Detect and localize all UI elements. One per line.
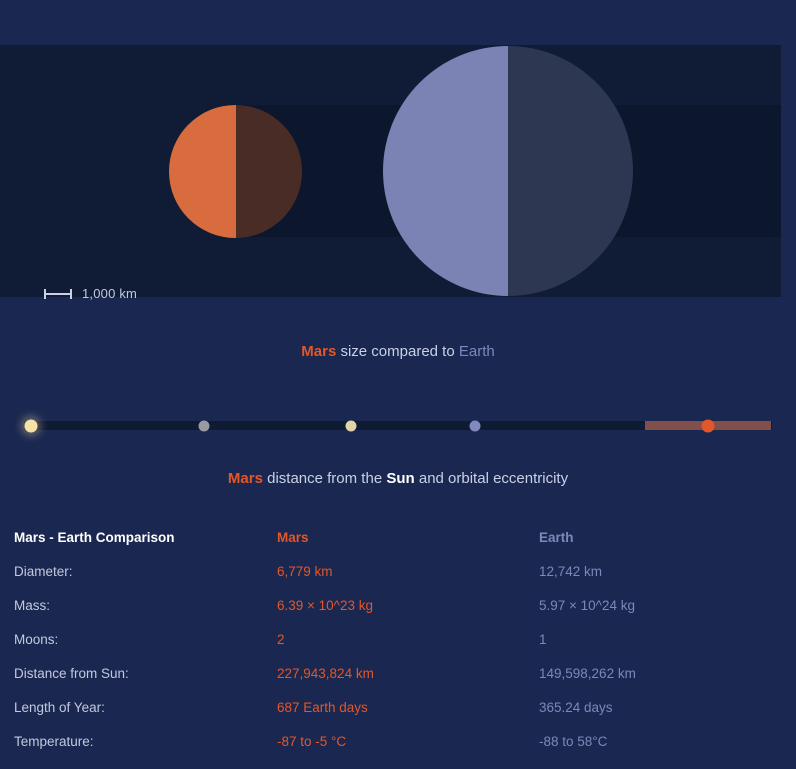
planet-comparison-app: 1,000 km Mars size compared to Earth Mar… — [0, 0, 796, 769]
row-value-earth: 12,742 km — [539, 562, 602, 582]
caption-distance-subject: Mars — [228, 470, 263, 487]
row-label: Mass: — [14, 596, 50, 616]
scale-ruler-icon — [44, 289, 72, 299]
row-value-mars: 227,943,824 km — [277, 664, 374, 684]
row-value-earth: 5.97 × 10^24 kg — [539, 596, 635, 616]
mars-dark-hemisphere — [236, 105, 303, 238]
row-value-mars: 6.39 × 10^23 kg — [277, 596, 373, 616]
row-value-mars: -87 to -5 °C — [277, 732, 346, 752]
caption-size-object: Earth — [459, 343, 495, 360]
caption-size-subject: Mars — [301, 343, 336, 360]
column-header-earth: Earth — [539, 528, 574, 548]
size-comparison-stage: 1,000 km — [0, 0, 796, 320]
mars-lit-hemisphere — [169, 105, 236, 238]
scale-bar: 1,000 km — [44, 286, 137, 301]
orbit-dot-venus[interactable] — [346, 421, 357, 432]
orbit-dot-earth[interactable] — [470, 421, 481, 432]
table-row: Moons:21 — [0, 630, 796, 664]
row-label: Distance from Sun: — [14, 664, 129, 684]
row-value-earth: -88 to 58°C — [539, 732, 607, 752]
row-value-mars: 6,779 km — [277, 562, 333, 582]
table-header-row: Mars - Earth Comparison Mars Earth — [0, 528, 796, 562]
size-comparison-caption: Mars size compared to Earth — [0, 343, 796, 360]
earth-lit-hemisphere — [383, 46, 508, 296]
mars-sphere[interactable] — [169, 105, 302, 238]
table-row: Temperature:-87 to -5 °C-88 to 58°C — [0, 732, 796, 766]
row-label: Diameter: — [14, 562, 73, 582]
distance-caption: Mars distance from the Sun and orbital e… — [0, 470, 796, 487]
row-label: Length of Year: — [14, 698, 105, 718]
table-body: Diameter:6,779 km12,742 kmMass:6.39 × 10… — [0, 562, 796, 766]
comparison-table: Mars - Earth Comparison Mars Earth Diame… — [0, 528, 796, 766]
orbit-dot-sun[interactable] — [25, 420, 38, 433]
orbital-distance-track[interactable] — [0, 405, 796, 445]
row-value-earth: 1 — [539, 630, 547, 650]
column-header-mars: Mars — [277, 528, 309, 548]
earth-sphere[interactable] — [383, 46, 633, 296]
earth-dark-hemisphere — [508, 46, 633, 296]
caption-distance-center-body: Sun — [386, 470, 414, 487]
scale-bar-label: 1,000 km — [82, 286, 137, 301]
row-value-mars: 687 Earth days — [277, 698, 368, 718]
table-row: Diameter:6,779 km12,742 km — [0, 562, 796, 596]
table-title: Mars - Earth Comparison — [14, 528, 175, 548]
caption-size-middle: size compared to — [336, 343, 459, 360]
caption-distance-tail: and orbital eccentricity — [415, 470, 568, 487]
row-label: Temperature: — [14, 732, 94, 752]
table-row: Length of Year:687 Earth days365.24 days — [0, 698, 796, 732]
orbit-dot-mars[interactable] — [702, 420, 715, 433]
table-row: Mass:6.39 × 10^23 kg5.97 × 10^24 kg — [0, 596, 796, 630]
caption-distance-middle: distance from the — [263, 470, 386, 487]
table-row: Distance from Sun:227,943,824 km149,598,… — [0, 664, 796, 698]
row-value-earth: 149,598,262 km — [539, 664, 636, 684]
row-label: Moons: — [14, 630, 58, 650]
row-value-earth: 365.24 days — [539, 698, 613, 718]
row-value-mars: 2 — [277, 630, 285, 650]
orbit-dot-mercury[interactable] — [199, 421, 210, 432]
